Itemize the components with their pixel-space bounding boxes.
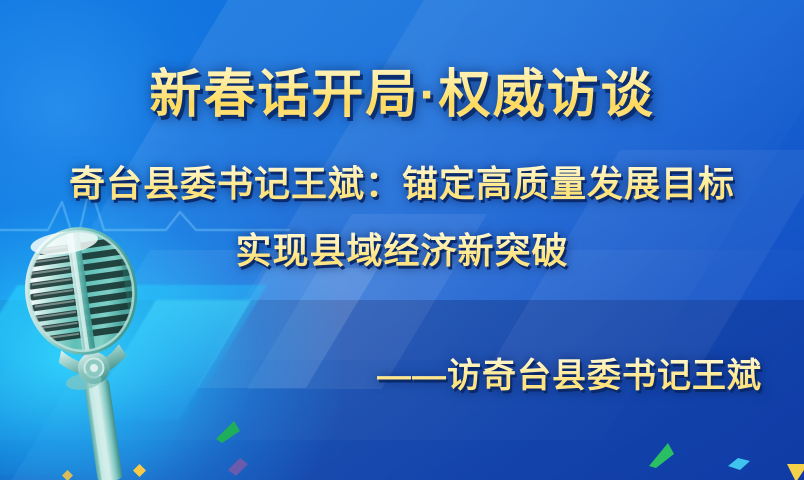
subtitle-line-1: 奇台县委书记王斌：锚定高质量发展目标 [0, 155, 804, 207]
attribution-line: ——访奇台县委书记王斌 [377, 348, 762, 397]
poster-canvas: 新春话开局·权威访谈 奇台县委书记王斌：锚定高质量发展目标 实现县域经济新突破 … [0, 0, 804, 480]
poster-text-block: 新春话开局·权威访谈 奇台县委书记王斌：锚定高质量发展目标 实现县域经济新突破 … [0, 0, 804, 480]
subtitle-line-2: 实现县域经济新突破 [0, 222, 804, 274]
page-title: 新春话开局·权威访谈 [0, 52, 804, 127]
